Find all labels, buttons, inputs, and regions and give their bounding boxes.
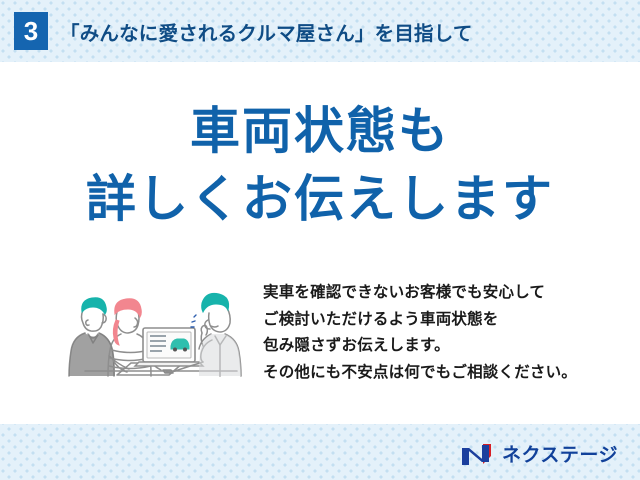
- woman-hair: [115, 299, 142, 317]
- speech-sparkle-icon: [191, 315, 196, 327]
- body-copy: 実車を確認できないお客様でも安心して ご検討いただけるよう車両状態を 包み隠さず…: [263, 280, 577, 387]
- section-header: 3 「みんなに愛されるクルマ屋さん」を目指して: [0, 0, 640, 62]
- consultation-illustration: [55, 276, 255, 386]
- body-line-1: 実車を確認できないお客様でも安心して: [263, 280, 577, 307]
- content-card: 車両状態も 詳しくお伝えします: [0, 62, 640, 424]
- detail-row: 実車を確認できないお客様でも安心して ご検討いただけるよう車両状態を 包み隠さず…: [0, 276, 640, 406]
- body-line-3: 包み隠さずお伝えします。: [263, 333, 577, 360]
- brand-footer: ネクステージ: [460, 442, 618, 468]
- section-number-badge: 3: [14, 12, 48, 50]
- headline: 車両状態も 詳しくお伝えします: [0, 102, 640, 228]
- body-line-2: ご検討いただけるよう車両状態を: [263, 307, 577, 334]
- headline-line-1: 車両状態も: [0, 102, 640, 160]
- brand-name: ネクステージ: [502, 446, 618, 465]
- headline-line-2: 詳しくお伝えします: [0, 170, 640, 228]
- section-title: 「みんなに愛されるクルマ屋さん」を目指して: [60, 17, 473, 46]
- promo-banner: 3 「みんなに愛されるクルマ屋さん」を目指して 車両状態も 詳しくお伝えします: [0, 0, 640, 480]
- body-line-4: その他にも不安点は何でもご相談ください。: [263, 360, 577, 387]
- man-hair: [82, 298, 107, 314]
- staff-hair: [202, 293, 229, 312]
- laptop-icon: [135, 328, 203, 366]
- nextage-logo-icon: [460, 442, 496, 468]
